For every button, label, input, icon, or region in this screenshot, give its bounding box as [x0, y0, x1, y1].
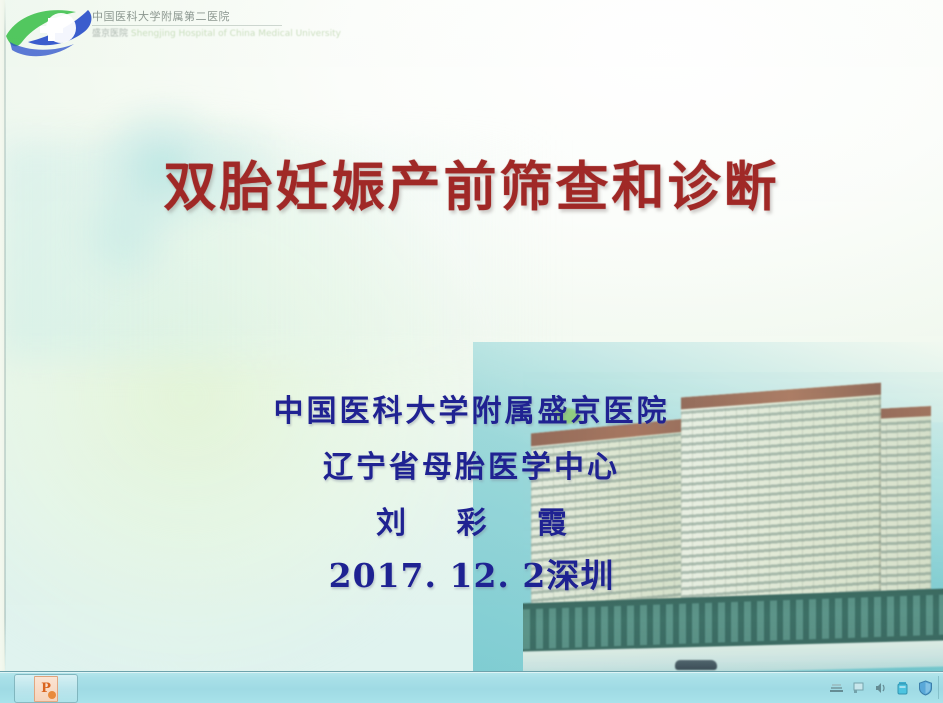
slide-author: 刘 彩 霞 [0, 498, 943, 542]
slide-affiliation: 中国医科大学附属盛京医院 [0, 386, 943, 430]
volume-icon[interactable] [874, 681, 887, 695]
slide-date-location: 2017. 12. 2深圳 [0, 549, 943, 597]
logo-divider [92, 25, 282, 26]
show-desktop-button[interactable] [938, 676, 939, 699]
logo-swoosh-icon [4, 2, 99, 72]
taskbar-button-powerpoint[interactable]: P [14, 674, 78, 703]
logo-subline: 盛京医院 Shengjing Hospital of China Medical… [92, 29, 292, 40]
system-tray[interactable] [829, 672, 939, 703]
slide-title: 双胎妊娠产前筛查和诊断 [0, 155, 943, 219]
logo-org-name: 中国医科大学附属第二医院 [92, 10, 292, 23]
battery-icon[interactable] [896, 680, 909, 696]
hospital-logo: 中国医科大学附属第二医院 盛京医院 Shengjing Hospital of … [4, 2, 294, 74]
powerpoint-icon-dot [48, 691, 56, 699]
presentation-slide[interactable]: 中国医科大学附属第二医院 盛京医院 Shengjing Hospital of … [0, 0, 943, 672]
logo-text-block: 中国医科大学附属第二医院 盛京医院 Shengjing Hospital of … [92, 10, 292, 40]
slide-center-name: 辽宁省母胎医学中心 [0, 442, 943, 486]
flag-icon[interactable] [853, 681, 865, 695]
shield-icon[interactable] [918, 680, 933, 696]
taskbar[interactable]: P [0, 671, 943, 703]
video-edge-line [4, 0, 6, 672]
car-shape [675, 660, 717, 670]
logo-subline-en: Shengjing Hospital of China Medical Univ… [131, 29, 341, 39]
powerpoint-icon: P [34, 676, 58, 702]
logo-subline-cn: 盛京医院 [92, 29, 128, 39]
screen: 中国医科大学附属第二医院 盛京医院 Shengjing Hospital of … [0, 0, 943, 703]
network-icon[interactable] [829, 681, 844, 695]
